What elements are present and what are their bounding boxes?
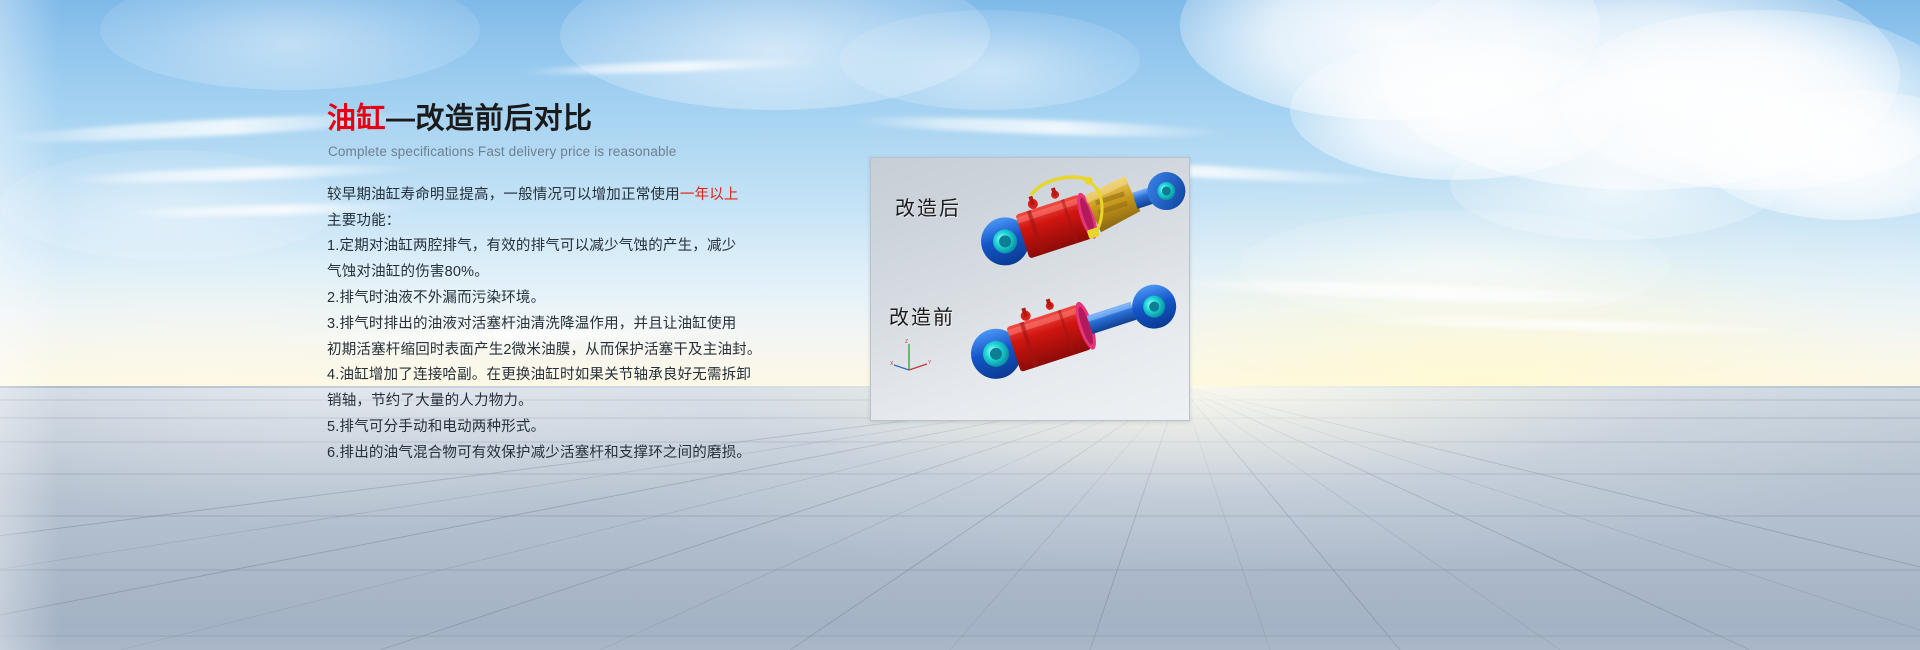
- body-line: 5.排气可分手动和电动两种形式。: [327, 415, 887, 441]
- label-after-modification: 改造后: [895, 192, 961, 221]
- body-line: 2.排气时油液不外漏而污染环境。: [327, 286, 887, 312]
- title-rest: —改造前后对比: [386, 103, 593, 135]
- body-line-text: 4.油缸增加了连接哈副。在更换油缸时如果关节轴承良好无需拆卸: [327, 367, 751, 383]
- promo-banner: 油缸—改造前后对比 Complete specifications Fast d…: [0, 0, 1920, 650]
- body-line-text: 气蚀对油缸的伤害80%。: [327, 264, 489, 280]
- page-title: 油缸—改造前后对比: [327, 104, 887, 136]
- svg-text:X: X: [890, 361, 894, 367]
- svg-text:Z: Z: [905, 339, 908, 345]
- body-line-text: 1.定期对油缸两腔排气，有效的排气可以减少气蚀的产生，减少: [327, 238, 736, 254]
- pavement-light-sheen: [0, 386, 1920, 650]
- pavement-perspective-lines: [0, 386, 1920, 650]
- body-line-text: 5.排气可分手动和电动两种形式。: [327, 419, 545, 435]
- pavement-horizontal-lines: [0, 386, 1920, 650]
- body-line-highlight: 一年以上: [680, 187, 739, 203]
- body-line-text: 较早期油缸寿命明显提高，一般情况可以增加正常使用: [327, 187, 680, 203]
- body-line: 3.排气时排出的油液对活塞杆油清洗降温作用，并且让油缸使用: [327, 312, 887, 338]
- pavement-texture: [0, 386, 1920, 650]
- body-line-text: 6.排出的油气混合物可有效保护减少活塞杆和支撑环之间的磨损。: [327, 445, 751, 461]
- feature-text-list: 较早期油缸寿命明显提高，一般情况可以增加正常使用一年以上 主要功能： 1.定期对…: [327, 183, 887, 467]
- body-line: 4.油缸增加了连接哈副。在更换油缸时如果关节轴承良好无需拆卸: [327, 363, 887, 389]
- hydraulic-cylinder-before-icon: [967, 276, 1189, 412]
- body-line: 气蚀对油缸的伤害80%。: [327, 260, 887, 286]
- page-subtitle: Complete specifications Fast delivery pr…: [328, 144, 887, 159]
- body-line: 1.定期对油缸两腔排气，有效的排气可以减少气蚀的产生，减少: [327, 234, 887, 260]
- svg-text:Y: Y: [928, 360, 932, 366]
- body-line: 主要功能：: [327, 209, 887, 235]
- body-line: 初期活塞杆缩回时表面产生2微米油膜，从而保护活塞干及主油封。: [327, 338, 887, 364]
- body-line: 6.排出的油气混合物可有效保护减少活塞杆和支撑环之间的磨损。: [327, 441, 887, 467]
- body-line: 较早期油缸寿命明显提高，一般情况可以增加正常使用一年以上: [327, 183, 887, 209]
- body-line-text: 2.排气时油液不外漏而污染环境。: [327, 290, 545, 306]
- hydraulic-cylinder-after-icon: [975, 168, 1190, 290]
- body-line-text: 销轴，节约了大量的人力物力。: [327, 393, 533, 409]
- body-line-text: 3.排气时排出的油液对活塞杆油清洗降温作用，并且让油缸使用: [327, 316, 736, 332]
- body-line-text: 主要功能：: [327, 213, 401, 229]
- pavement-ground: [0, 386, 1920, 650]
- body-line: 销轴，节约了大量的人力物力。: [327, 389, 887, 415]
- body-line-text: 初期活塞杆缩回时表面产生2微米油膜，从而保护活塞干及主油封。: [327, 342, 762, 358]
- title-accent: 油缸: [327, 103, 386, 135]
- axis-gizmo-icon: Z Y X: [889, 336, 933, 376]
- text-content-block: 油缸—改造前后对比 Complete specifications Fast d…: [327, 104, 887, 467]
- product-comparison-image: 改造后 改造前: [870, 157, 1190, 421]
- label-before-modification: 改造前: [889, 301, 955, 330]
